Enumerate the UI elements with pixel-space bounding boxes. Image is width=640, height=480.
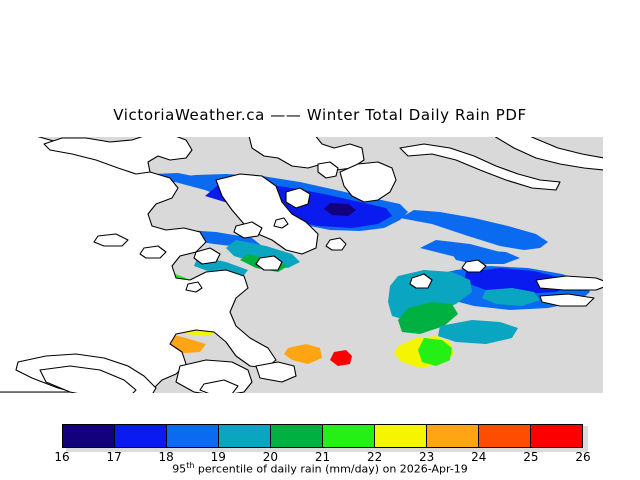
- colorbar-band-18-19[interactable]: [167, 425, 219, 447]
- colorbar-band-21-22[interactable]: [323, 425, 375, 447]
- colorbar-band-23-24[interactable]: [427, 425, 479, 447]
- page-title: VictoriaWeather.ca —— Winter Total Daily…: [0, 106, 640, 124]
- colorbar-band-20-21[interactable]: [271, 425, 323, 447]
- colorbar-band-17-18[interactable]: [115, 425, 167, 447]
- colorbar-caption: 95th percentile of daily rain (mm/day) o…: [0, 461, 640, 476]
- colorbar-band-22-23[interactable]: [375, 425, 427, 447]
- caption-text: percentile of daily rain (mm/day) on 202…: [194, 463, 467, 476]
- colorbar-band-24-25[interactable]: [479, 425, 531, 447]
- colorbar-band-16-17[interactable]: [63, 425, 115, 447]
- colorbar-band-19-20[interactable]: [219, 425, 271, 447]
- caption-number: 95: [172, 463, 186, 476]
- map-panel: [0, 130, 640, 395]
- colorbar-band-25-26[interactable]: [531, 425, 582, 447]
- colorbar[interactable]: [62, 424, 583, 448]
